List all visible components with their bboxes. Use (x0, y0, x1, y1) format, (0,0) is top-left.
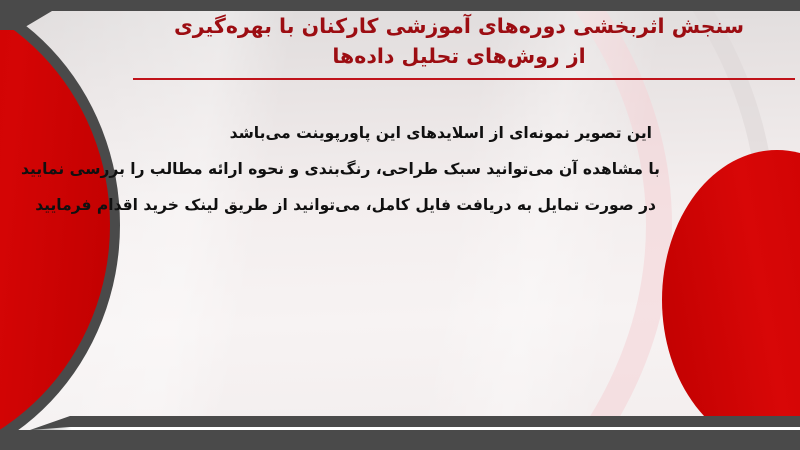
bottom-highlight-stripe (0, 427, 800, 430)
title-underline (133, 78, 795, 80)
slide-body: این تصویر نمونه‌ای از اسلایدهای این پاور… (150, 116, 660, 224)
title-line-1: سنجش اثربخشی دوره‌های آموزشی کارکنان با … (140, 12, 778, 42)
body-line-2: با مشاهده آن می‌توانید سبک طراحی، رنگ‌بن… (150, 152, 660, 188)
slide-title: سنجش اثربخشی دوره‌های آموزشی کارکنان با … (140, 12, 778, 71)
presentation-slide: سنجش اثربخشی دوره‌های آموزشی کارکنان با … (0, 0, 800, 450)
body-line-1: این تصویر نمونه‌ای از اسلایدهای این پاور… (150, 116, 660, 152)
body-line-3: در صورت تمایل به دریافت فایل کامل، می‌تو… (150, 188, 660, 224)
bottom-dark-bar (0, 416, 800, 450)
title-line-2: از روش‌های تحلیل داده‌ها (140, 42, 778, 72)
